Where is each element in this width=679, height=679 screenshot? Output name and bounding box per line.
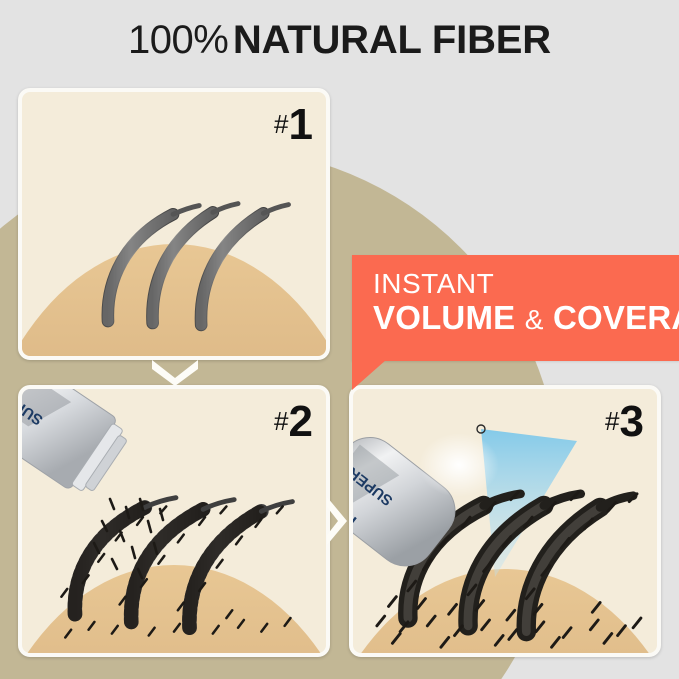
- fiber-bottle-icon: SUPER MI: [18, 385, 172, 581]
- panel-3-hash: #: [605, 406, 619, 436]
- banner-volume-label: VOLUME: [373, 299, 515, 336]
- page-title: 100% NATURAL FIBER: [0, 18, 679, 63]
- banner-ampersand: &: [525, 304, 544, 335]
- panel-2-digit: 2: [289, 397, 312, 446]
- step-panel-2: SUPER MI: [18, 385, 330, 657]
- page-title-light: 100%: [128, 18, 228, 62]
- infographic-canvas: 100% NATURAL FIBER: [0, 0, 679, 679]
- banner-line-2: VOLUME & COVERAGE: [373, 300, 679, 337]
- page-title-bold: NATURAL FIBER: [233, 18, 551, 62]
- step-panel-1: #1: [18, 88, 330, 360]
- step-panel-3: SUPER HAIR: [349, 385, 661, 657]
- banner-coverage-label: COVERAGE: [553, 299, 679, 336]
- panel-3-digit: 3: [620, 397, 643, 446]
- panel-3-number: #3: [605, 397, 643, 447]
- spray-bottle-icon: SUPER HAIR: [349, 419, 523, 649]
- chevron-right-icon: [325, 497, 351, 545]
- panel-1-digit: 1: [289, 100, 312, 149]
- panel-1-hash: #: [274, 109, 288, 139]
- chevron-down-icon: [152, 358, 198, 386]
- panel-2-number: #2: [274, 397, 312, 447]
- panel-1-number: #1: [274, 100, 312, 150]
- banner-line-1: INSTANT: [373, 269, 679, 300]
- panel-2-hash: #: [274, 406, 288, 436]
- instant-volume-banner: INSTANT VOLUME & COVERAGE: [352, 255, 679, 361]
